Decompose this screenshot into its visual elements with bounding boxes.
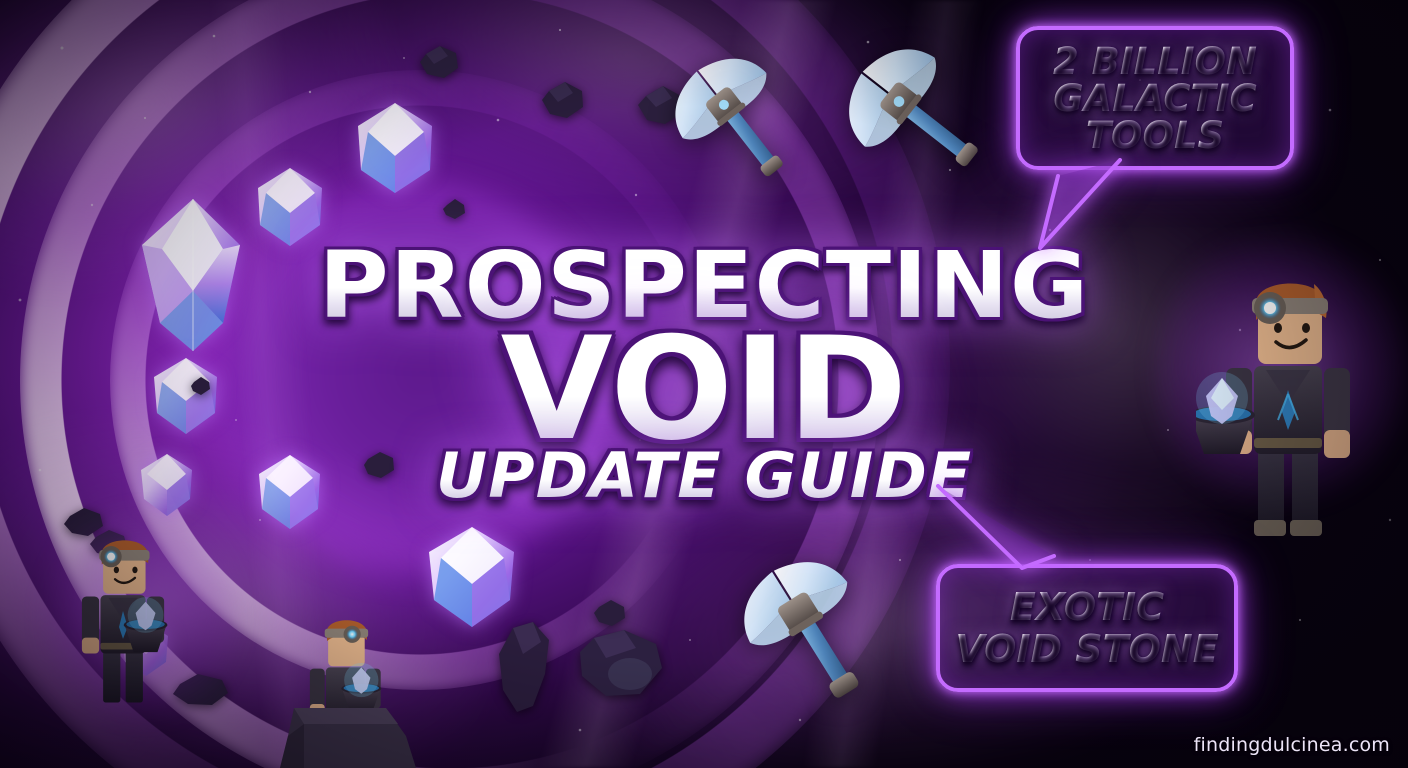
- bubble-line-2: VOID STONE: [955, 630, 1218, 668]
- title-block: PROSPECTING VOID UPDATE GUIDE: [0, 243, 1408, 505]
- speech-bubble-galactic-tools: 2 BILLION GALACTIC TOOLS: [1016, 26, 1294, 170]
- thumbnail-canvas: PROSPECTING VOID UPDATE GUIDE 2 BILLION …: [0, 0, 1408, 768]
- speech-bubble-box: 2 BILLION GALACTIC TOOLS: [1016, 26, 1294, 170]
- bubble-line-2: GALACTIC: [1053, 80, 1256, 117]
- page-title-tagline: UPDATE GUIDE: [0, 447, 1408, 505]
- speech-bubble-void-stone: EXOTIC VOID STONE: [936, 564, 1238, 692]
- site-watermark: findingdulcinea.com: [1194, 734, 1390, 756]
- speech-bubble-box: EXOTIC VOID STONE: [936, 564, 1238, 692]
- bubble-line-1: 2 BILLION: [1053, 43, 1257, 80]
- bubble-line-1: EXOTIC: [1010, 588, 1164, 626]
- speech-bubble-tail: [926, 482, 1086, 582]
- bubble-line-3: TOOLS: [1086, 117, 1224, 154]
- page-title-sub: VOID: [0, 323, 1408, 456]
- speech-bubble-tail: [1024, 152, 1144, 262]
